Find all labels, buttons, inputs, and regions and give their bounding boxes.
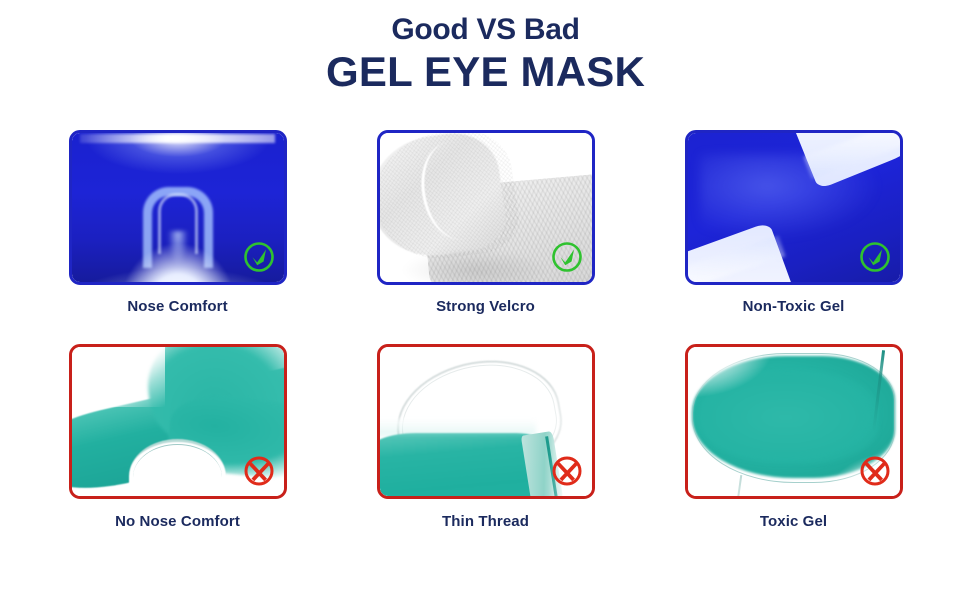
cell-nose-comfort: Nose Comfort [69,130,287,315]
comparison-grid: Nose Comfort [0,130,971,530]
card-label: Thin Thread [442,513,529,530]
card-label: Non-Toxic Gel [743,298,845,315]
red-cross-icon [858,454,892,488]
cell-thin-thread: Thin Thread [377,344,595,530]
card-label: Strong Velcro [436,298,535,315]
card-strong-velcro[interactable] [377,130,595,285]
page-subtitle: Good VS Bad [0,14,971,46]
card-thin-thread[interactable] [377,344,595,499]
page-title: GEL EYE MASK [0,48,971,95]
green-check-icon [550,240,584,274]
cell-no-nose-comfort: No Nose Comfort [69,344,287,530]
green-check-icon [242,240,276,274]
red-cross-icon [242,454,276,488]
card-toxic-gel[interactable] [685,344,903,499]
card-label: Toxic Gel [760,513,827,530]
green-check-icon [858,240,892,274]
cell-non-toxic-gel: Non-Toxic Gel [685,130,903,315]
bad-row: No Nose Comfort [0,344,971,530]
red-cross-icon [550,454,584,488]
cell-toxic-gel: Toxic Gel [685,344,903,530]
cell-strong-velcro: Strong Velcro [377,130,595,315]
card-nose-comfort[interactable] [69,130,287,285]
card-non-toxic-gel[interactable] [685,130,903,285]
card-label: No Nose Comfort [115,513,240,530]
comparison-infographic: Good VS Bad GEL EYE MASK [0,0,971,601]
card-label: Nose Comfort [127,298,227,315]
header: Good VS Bad GEL EYE MASK [0,14,971,95]
card-no-nose-comfort[interactable] [69,344,287,499]
good-row: Nose Comfort [0,130,971,315]
